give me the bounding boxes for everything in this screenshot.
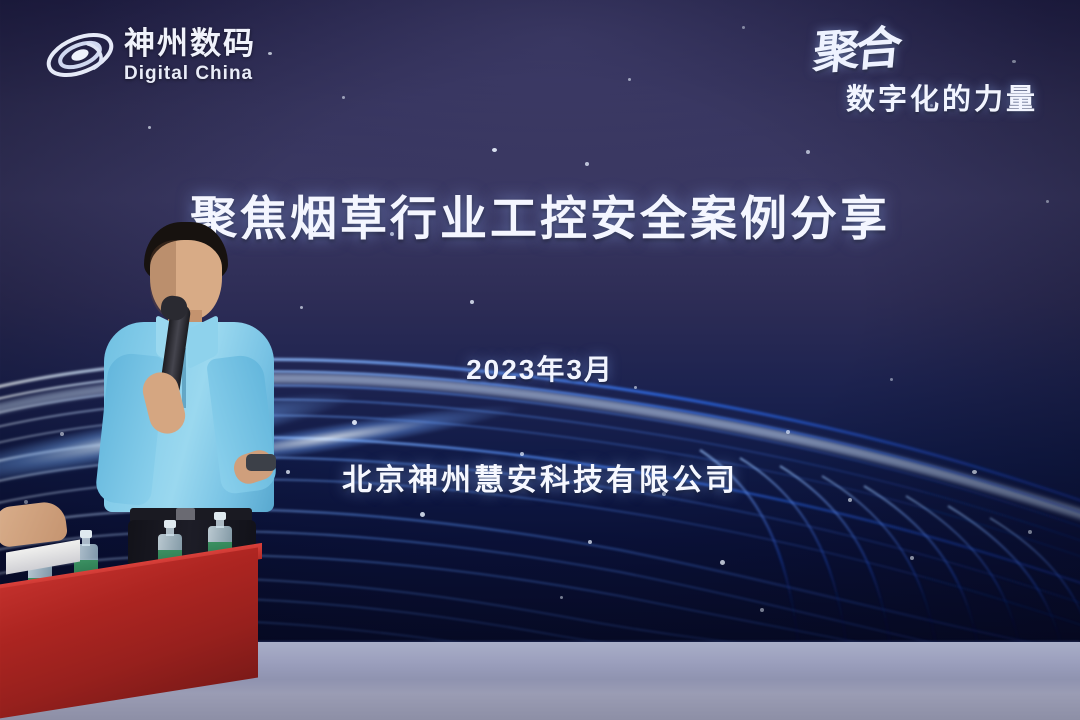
presentation-clicker	[246, 454, 276, 471]
conference-stage-screenshot: 神州数码 Digital China 聚合 数字化的力量 聚焦烟草行业工控安全案…	[0, 0, 1080, 720]
event-tagline: 数字化的力量	[846, 76, 1038, 118]
digital-china-logo: 神州数码 Digital China	[44, 20, 284, 90]
galaxy-swirl-icon	[44, 24, 116, 86]
event-brush-title: 聚合	[811, 11, 902, 83]
digital-china-wordmark: 神州数码 Digital China	[124, 28, 256, 83]
logo-english-text: Digital China	[124, 64, 256, 83]
event-logo: 聚合 数字化的力量	[802, 14, 1062, 114]
attendee-hands	[0, 500, 68, 548]
logo-chinese-text: 神州数码	[124, 28, 256, 59]
